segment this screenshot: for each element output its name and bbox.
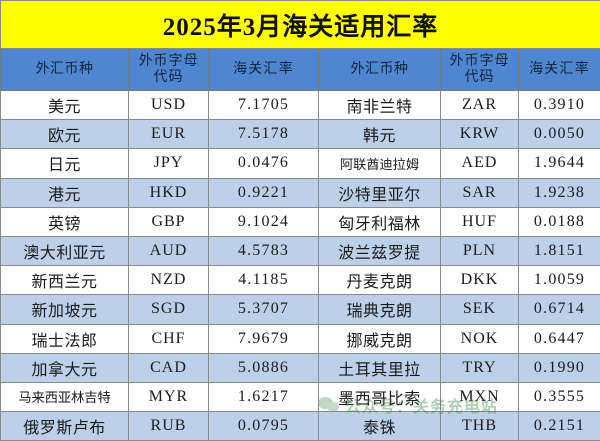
cell-currency-name-right: 瑞典克朗 (319, 295, 441, 324)
cell-customs-rate-right: 0.6447 (519, 324, 600, 353)
header-currency-code-left: 外币字母 代码 (129, 49, 209, 91)
cell-customs-rate-left: 9.1024 (209, 207, 319, 236)
cell-currency-code-right: SEK (441, 295, 519, 324)
cell-currency-code-right: DKK (441, 266, 519, 295)
cell-currency-code-left: CAD (129, 353, 209, 382)
cell-currency-name-right: 韩元 (319, 120, 441, 149)
cell-customs-rate-left: 0.0476 (209, 149, 319, 178)
cell-customs-rate-right: 1.9644 (519, 149, 600, 178)
table-row: 澳大利亚元 AUD 4.5783 波兰兹罗提 PLN 1.8151 (1, 236, 600, 265)
table-row: 港元 HKD 0.9221 沙特里亚尔 SAR 1.9238 (1, 178, 600, 207)
cell-customs-rate-right: 1.0059 (519, 266, 600, 295)
cell-currency-code-left: EUR (129, 120, 209, 149)
cell-currency-code-left: CHF (129, 324, 209, 353)
cell-currency-name-left: 马来西亚林吉特 (1, 382, 129, 411)
exchange-rate-sheet: 2025年3月海关适用汇率 外汇币种 外币字母 代码 海关汇率 外汇币种 外币字… (0, 0, 600, 426)
cell-customs-rate-left: 7.1705 (209, 91, 319, 120)
cell-currency-code-left: SGD (129, 295, 209, 324)
cell-currency-code-right: HUF (441, 207, 519, 236)
cell-currency-name-right: 泰铢 (319, 412, 441, 441)
table-row: 新西兰元 NZD 4.1185 丹麦克朗 DKK 1.0059 (1, 266, 600, 295)
cell-customs-rate-right: 0.2151 (519, 412, 600, 441)
cell-customs-rate-right: 1.8151 (519, 236, 600, 265)
cell-currency-code-left: GBP (129, 207, 209, 236)
cell-currency-name-left: 欧元 (1, 120, 129, 149)
cell-currency-code-right: THB (441, 412, 519, 441)
cell-currency-name-left: 日元 (1, 149, 129, 178)
cell-customs-rate-left: 0.0795 (209, 412, 319, 441)
cell-customs-rate-left: 7.5178 (209, 120, 319, 149)
cell-currency-code-left: RUB (129, 412, 209, 441)
cell-currency-code-left: AUD (129, 236, 209, 265)
table-row: 马来西亚林吉特 MYR 1.6217 墨西哥比索 MXN 0.3555 (1, 382, 600, 411)
cell-currency-code-right: SAR (441, 178, 519, 207)
cell-currency-name-right: 南非兰特 (319, 91, 441, 120)
cell-customs-rate-left: 4.1185 (209, 266, 319, 295)
cell-currency-code-right: NOK (441, 324, 519, 353)
page-title: 2025年3月海关适用汇率 (1, 1, 600, 49)
cell-currency-code-right: TRY (441, 353, 519, 382)
header-customs-rate-left: 海关汇率 (209, 49, 319, 91)
customs-exchange-rate-table: 2025年3月海关适用汇率 外汇币种 外币字母 代码 海关汇率 外汇币种 外币字… (0, 0, 600, 441)
header-code-line1: 外币字母 (129, 54, 208, 70)
cell-currency-name-left: 英镑 (1, 207, 129, 236)
cell-customs-rate-right: 0.1990 (519, 353, 600, 382)
cell-currency-name-right: 土耳其里拉 (319, 353, 441, 382)
cell-customs-rate-right: 1.9238 (519, 178, 600, 207)
cell-currency-name-right: 阿联酋迪拉姆 (319, 149, 441, 178)
table-row: 美元 USD 7.1705 南非兰特 ZAR 0.3910 (1, 91, 600, 120)
table-row: 英镑 GBP 9.1024 匈牙利福林 HUF 0.0188 (1, 207, 600, 236)
cell-customs-rate-left: 5.3707 (209, 295, 319, 324)
cell-customs-rate-right: 0.3555 (519, 382, 600, 411)
cell-currency-name-left: 港元 (1, 178, 129, 207)
table-row: 加拿大元 CAD 5.0886 土耳其里拉 TRY 0.1990 (1, 353, 600, 382)
title-row: 2025年3月海关适用汇率 (1, 1, 600, 49)
cell-customs-rate-left: 7.9679 (209, 324, 319, 353)
header-customs-rate-right: 海关汇率 (519, 49, 600, 91)
cell-customs-rate-right: 0.0188 (519, 207, 600, 236)
cell-currency-code-left: MYR (129, 382, 209, 411)
cell-currency-code-right: PLN (441, 236, 519, 265)
cell-currency-name-left: 澳大利亚元 (1, 236, 129, 265)
cell-currency-code-left: USD (129, 91, 209, 120)
table-row: 瑞士法郎 CHF 7.9679 挪威克朗 NOK 0.6447 (1, 324, 600, 353)
cell-currency-name-right: 沙特里亚尔 (319, 178, 441, 207)
cell-currency-code-right: KRW (441, 120, 519, 149)
cell-currency-code-left: NZD (129, 266, 209, 295)
header-currency-code-right: 外币字母 代码 (441, 49, 519, 91)
cell-currency-name-right: 挪威克朗 (319, 324, 441, 353)
cell-currency-name-left: 瑞士法郎 (1, 324, 129, 353)
cell-customs-rate-left: 0.9221 (209, 178, 319, 207)
cell-currency-name-right: 匈牙利福林 (319, 207, 441, 236)
cell-customs-rate-right: 0.6714 (519, 295, 600, 324)
table-row: 新加坡元 SGD 5.3707 瑞典克朗 SEK 0.6714 (1, 295, 600, 324)
header-currency-name-left: 外汇币种 (1, 49, 129, 91)
cell-currency-name-right: 丹麦克朗 (319, 266, 441, 295)
cell-currency-code-left: JPY (129, 149, 209, 178)
cell-customs-rate-left: 5.0886 (209, 353, 319, 382)
cell-currency-code-left: HKD (129, 178, 209, 207)
cell-currency-code-right: MXN (441, 382, 519, 411)
cell-customs-rate-right: 0.0050 (519, 120, 600, 149)
cell-currency-name-left: 新加坡元 (1, 295, 129, 324)
cell-currency-code-right: ZAR (441, 91, 519, 120)
table-row: 俄罗斯卢布 RUB 0.0795 泰铢 THB 0.2151 (1, 412, 600, 441)
cell-customs-rate-left: 1.6217 (209, 382, 319, 411)
table-body: 2025年3月海关适用汇率 外汇币种 外币字母 代码 海关汇率 外汇币种 外币字… (1, 1, 600, 441)
table-header-row: 外汇币种 外币字母 代码 海关汇率 外汇币种 外币字母 代码 海关汇率 (1, 49, 600, 91)
cell-currency-name-right: 墨西哥比索 (319, 382, 441, 411)
header-code-line1: 外币字母 (441, 54, 518, 70)
header-code-line2: 代码 (129, 70, 208, 86)
cell-customs-rate-left: 4.5783 (209, 236, 319, 265)
header-code-line2: 代码 (441, 70, 518, 86)
cell-currency-name-left: 加拿大元 (1, 353, 129, 382)
table-row: 日元 JPY 0.0476 阿联酋迪拉姆 AED 1.9644 (1, 149, 600, 178)
header-currency-name-right: 外汇币种 (319, 49, 441, 91)
cell-customs-rate-right: 0.3910 (519, 91, 600, 120)
cell-currency-name-left: 俄罗斯卢布 (1, 412, 129, 441)
cell-currency-name-right: 波兰兹罗提 (319, 236, 441, 265)
cell-currency-name-left: 美元 (1, 91, 129, 120)
table-row: 欧元 EUR 7.5178 韩元 KRW 0.0050 (1, 120, 600, 149)
cell-currency-code-right: AED (441, 149, 519, 178)
cell-currency-name-left: 新西兰元 (1, 266, 129, 295)
